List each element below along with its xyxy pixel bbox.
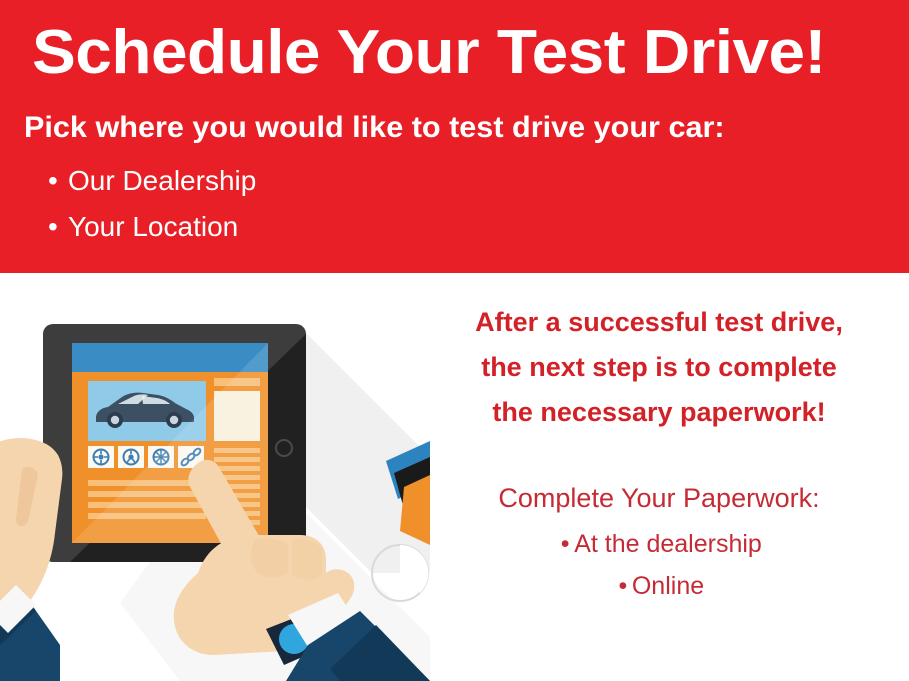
list-item: •Online — [424, 565, 894, 607]
banner-option-list: •Our Dealership •Your Location — [48, 158, 256, 250]
banner-option-label: Our Dealership — [68, 165, 256, 196]
car-wheel-rear-rim — [170, 416, 178, 424]
finger-crease-2 — [292, 539, 322, 580]
headline-line-2: the next step is to complete — [424, 345, 894, 390]
banner-option-label: Your Location — [68, 211, 238, 242]
finger-crease-1 — [251, 538, 288, 577]
banner-subtitle: Pick where you would like to test drive … — [24, 110, 725, 146]
paperwork-subheading: Complete Your Paperwork: — [424, 481, 894, 515]
paperwork-option-list: •At the dealership •Online — [424, 523, 894, 607]
right-text-column: After a successful test drive, the next … — [424, 300, 894, 607]
list-item: •Our Dealership — [48, 158, 256, 204]
list-item: •Your Location — [48, 204, 256, 250]
paperwork-headline: After a successful test drive, the next … — [424, 300, 894, 439]
tablet-illustration-svg — [0, 273, 430, 681]
bullet-icon: • — [48, 204, 68, 250]
infographic-root: Schedule Your Test Drive! Pick where you… — [0, 0, 909, 681]
red-banner: Schedule Your Test Drive! Pick where you… — [0, 0, 909, 273]
paperwork-option-label: At the dealership — [574, 530, 762, 558]
page-title: Schedule Your Test Drive! — [32, 20, 909, 86]
screen-header-bar — [72, 343, 268, 372]
tablet-illustration — [0, 273, 430, 681]
car-wheel-front-rim — [111, 416, 119, 424]
headline-line-3: the necessary paperwork! — [424, 390, 894, 435]
wheel-icon-hub — [98, 454, 103, 459]
bullet-icon: • — [556, 523, 574, 565]
bullet-icon: • — [48, 158, 68, 204]
bullet-icon: • — [614, 565, 632, 607]
paperwork-options-block: Complete Your Paperwork: •At the dealers… — [424, 481, 894, 607]
paperwork-option-label: Online — [632, 572, 704, 600]
headline-line-1: After a successful test drive, — [424, 300, 894, 345]
tablet-device — [43, 324, 306, 562]
list-item: •At the dealership — [424, 523, 894, 565]
